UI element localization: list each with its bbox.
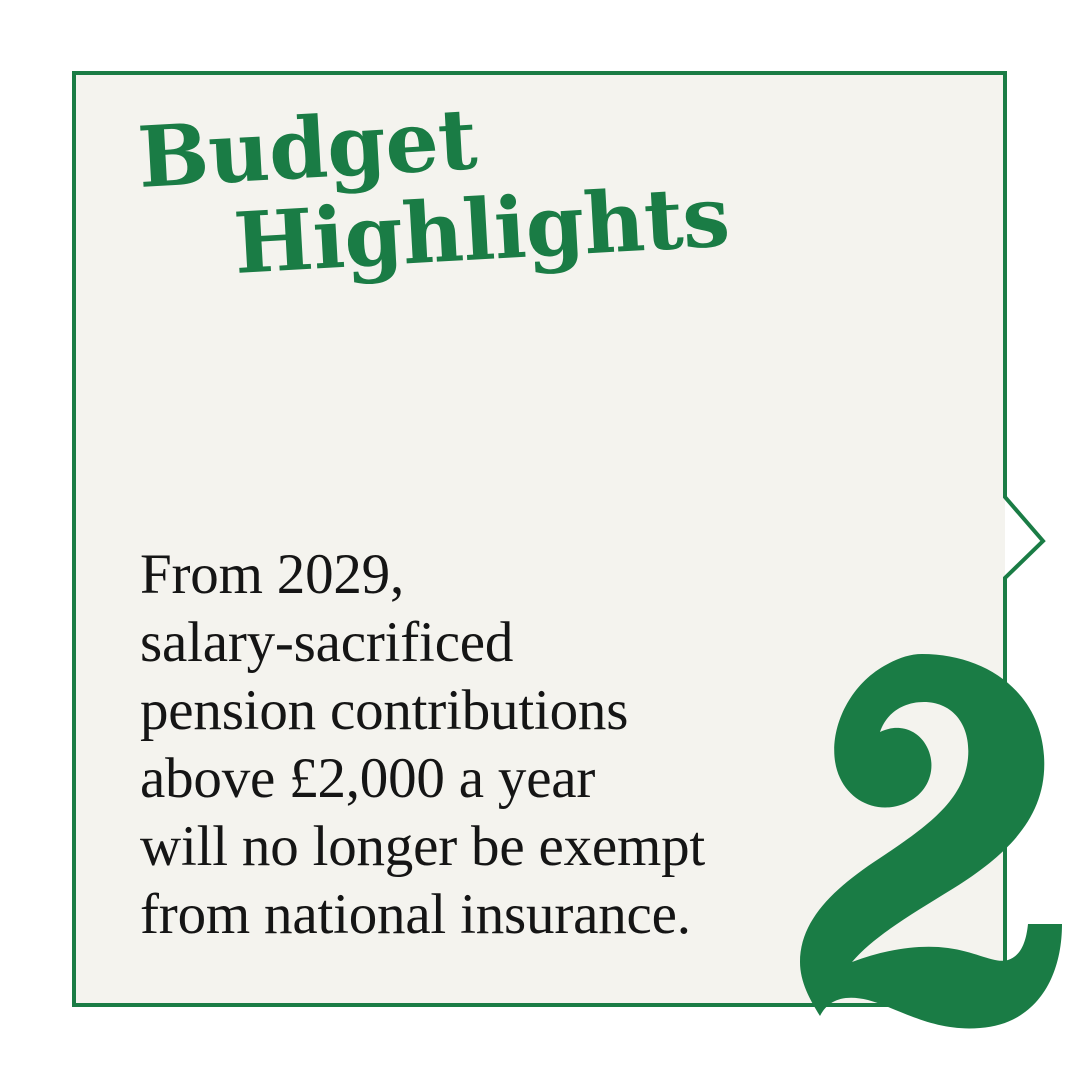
body-line-4: above £2,000 a year xyxy=(140,745,860,813)
poster-canvas: Budget Highlights From 2029, salary-sacr… xyxy=(0,0,1080,1080)
body-line-1: From 2029, xyxy=(140,541,860,609)
body-line-6: from national insurance. xyxy=(140,881,860,949)
highlight-number-2 xyxy=(772,648,1062,1030)
body-line-2: salary-sacrificed xyxy=(140,609,860,677)
numeral-two-shape xyxy=(800,654,1062,1028)
body-line-3: pension contributions xyxy=(140,677,860,745)
page-title: Budget Highlights xyxy=(138,118,898,284)
body-line-5: will no longer be exempt xyxy=(140,813,860,881)
body-copy: From 2029, salary-sacrificed pension con… xyxy=(140,541,860,949)
numeral-two-glyph-icon xyxy=(772,648,1062,1030)
